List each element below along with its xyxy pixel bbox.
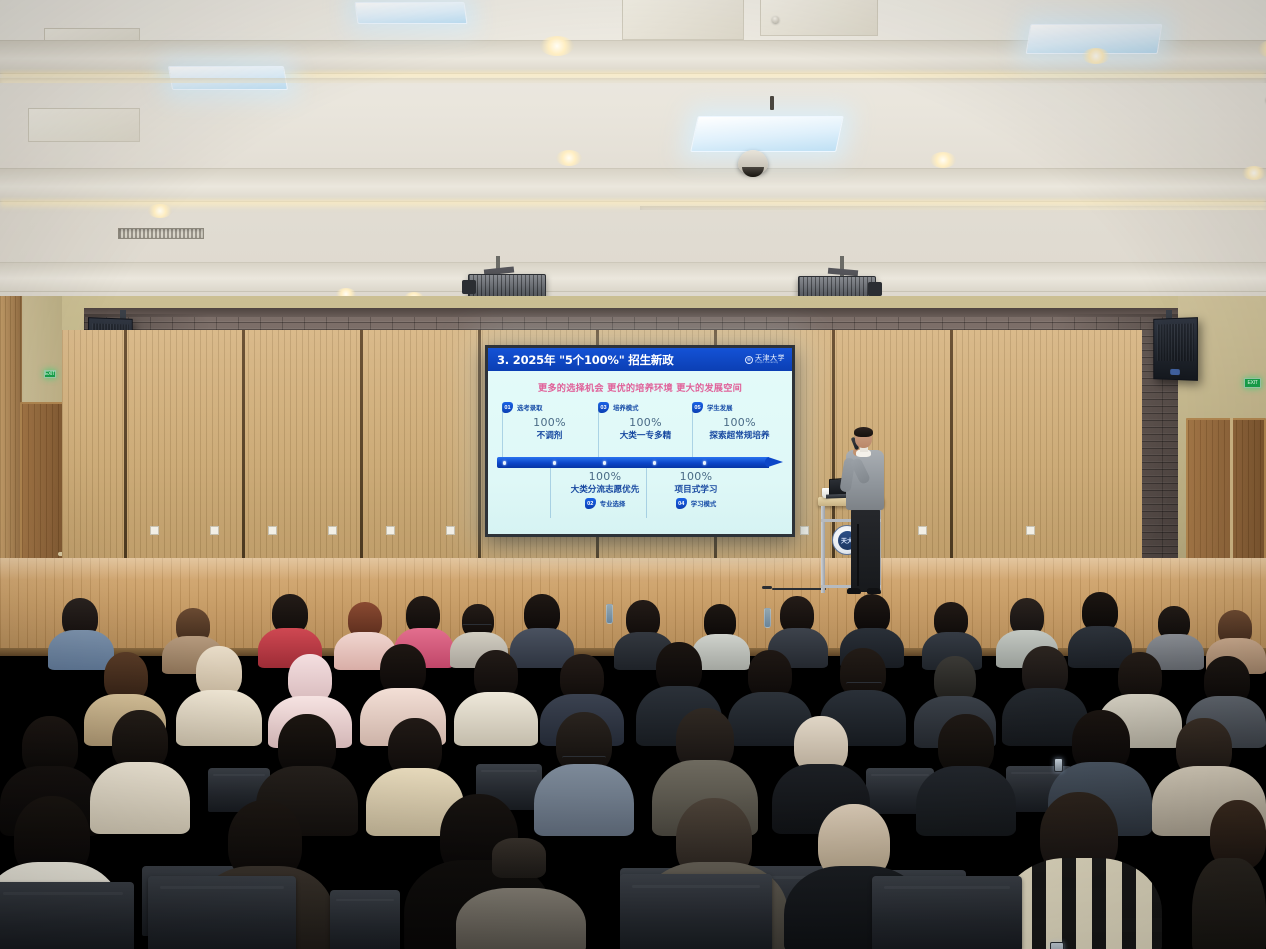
panel-seam (360, 330, 363, 562)
wall-plate (386, 526, 395, 535)
timeline-node (503, 461, 506, 464)
ceiling-soffit (0, 168, 1266, 202)
ceiling (0, 0, 1266, 300)
timeline-item-01-percent: 100% (502, 416, 597, 429)
timeline-arrow (497, 457, 783, 468)
camera-mount-stalk (770, 96, 774, 110)
slide-subtitle: 更多的选择机会 更优的培养环境 更大的发展空间 (488, 380, 792, 394)
timeline-node (703, 461, 706, 464)
timeline-item-03-header: 03 培养模式 (598, 402, 693, 413)
timeline-node (553, 461, 556, 464)
ceiling-downlight (1242, 166, 1266, 180)
timeline-item-02-percent: 100% (550, 470, 660, 483)
wall-plate (918, 526, 927, 535)
timeline-arrow-head (765, 456, 783, 468)
timeline-item-01: 01 选考录取 100% 不调剂 (502, 402, 597, 441)
university-logo-text: 天津大学 Tianjin University (755, 355, 785, 365)
timeline-item-03: 03 培养模式 100% 大类一专多精 (598, 402, 693, 441)
wall-plate (150, 526, 159, 535)
timeline-tick (502, 404, 503, 457)
timeline-item-02-badge: 02 (585, 498, 596, 509)
timeline-item-03-desc: 大类一专多精 (598, 429, 693, 441)
audience-body (1002, 858, 1162, 949)
presenter-legs (851, 508, 880, 592)
exit-sign-icon-right: EXIT (1244, 378, 1261, 388)
timeline-item-01-category: 选考录取 (517, 403, 543, 412)
ceiling-downlight (556, 150, 582, 166)
ceiling-panel-light (354, 2, 467, 24)
timeline-item-05-header: 05 学生发展 (692, 402, 787, 413)
audience-body (1192, 858, 1266, 949)
ceiling-tile (622, 0, 744, 40)
wall-plate (800, 526, 809, 535)
timeline-tick (598, 404, 599, 457)
timeline-item-04: 100% 项目式学习 04 学习模式 (646, 470, 746, 509)
seat-foreground[interactable] (872, 876, 1022, 949)
presenter-leg-gap (857, 524, 859, 586)
speaker-grille (1157, 323, 1195, 361)
timeline-item-05-category: 学生发展 (707, 403, 733, 412)
smartphone-icon[interactable] (1054, 758, 1063, 772)
panel-seam (124, 330, 127, 562)
timeline-tick (692, 404, 693, 457)
wall-plate (1026, 526, 1035, 535)
ceiling-downlight (148, 204, 172, 218)
audience-body (456, 888, 586, 949)
exit-sign-label-right: EXIT (1248, 380, 1258, 386)
ceiling-downlight (1082, 48, 1110, 64)
ceiling-downlight (930, 152, 956, 168)
wall-plate (446, 526, 455, 535)
timeline-item-03-category: 培养模式 (613, 403, 639, 412)
wall-plate (328, 526, 337, 535)
panel-seam (950, 330, 953, 562)
slide-timeline: 01 选考录取 100% 不调剂 03 培养模式 100% 大类一专多精 (488, 402, 792, 520)
presenter-hair (854, 427, 873, 437)
ceiling-air-vent (118, 228, 204, 239)
ceiling-downlight (540, 36, 574, 56)
panel-seam (242, 330, 245, 562)
timeline-item-04-header: 04 学习模式 (646, 498, 746, 509)
timeline-node (653, 461, 656, 464)
timeline-item-05-badge: 05 (692, 402, 703, 413)
audience-head (492, 838, 546, 878)
panel-seam (478, 330, 481, 562)
audience (0, 590, 1266, 949)
speaker-brand-logo (1170, 369, 1180, 375)
wall-speaker-icon-right (1153, 317, 1198, 381)
ceiling-tile (28, 108, 140, 142)
timeline-item-04-badge: 04 (676, 498, 687, 509)
timeline-item-04-desc: 项目式学习 (646, 483, 746, 495)
timeline-item-04-percent: 100% (646, 470, 746, 483)
timeline-item-03-badge: 03 (598, 402, 609, 413)
smartphone-icon[interactable] (1050, 942, 1064, 949)
ceiling-light-strip (0, 78, 1266, 83)
timeline-arrow-bar (497, 457, 769, 468)
seat-foreground[interactable] (0, 882, 134, 949)
timeline-item-02-desc: 大类分流志愿优先 (550, 483, 660, 495)
dome-camera-icon (738, 150, 768, 174)
water-bottle (764, 608, 771, 628)
wall-plate (210, 526, 219, 535)
timeline-item-01-header: 01 选考录取 (502, 402, 597, 413)
slide: 3. 2025年 "5个100%" 招生新政 ⊛ 天津大学 Tianjin Un… (488, 348, 792, 534)
exit-sign-icon: EXIT (44, 370, 56, 378)
timeline-item-05-percent: 100% (692, 416, 787, 429)
seat-foreground[interactable] (148, 876, 296, 949)
timeline-item-05-desc: 探索超常规培养 (692, 429, 787, 441)
timeline-item-01-badge: 01 (502, 402, 513, 413)
university-logo: ⊛ 天津大学 Tianjin University (745, 355, 785, 365)
ceiling-soffit (0, 262, 1266, 292)
timeline-item-02-category: 专业选择 (600, 499, 626, 508)
exit-sign-label: EXIT (45, 371, 55, 377)
microphone-icon-floor (762, 586, 772, 589)
wall-plate (268, 526, 277, 535)
timeline-item-01-desc: 不调剂 (502, 429, 597, 441)
timeline-item-05: 05 学生发展 100% 探索超常规培养 (692, 402, 787, 441)
sprinkler-icon (772, 16, 779, 23)
eyeglasses (462, 624, 492, 628)
water-bottle (606, 604, 613, 624)
projection-screen: 3. 2025年 "5个100%" 招生新政 ⊛ 天津大学 Tianjin Un… (485, 345, 795, 537)
auditorium-photo: EXIT EXIT 春 大 堂 讲 (0, 0, 1266, 949)
timeline-item-04-category: 学习模式 (691, 499, 717, 508)
eyeglasses (562, 756, 606, 760)
slide-header: 3. 2025年 "5个100%" 招生新政 ⊛ 天津大学 Tianjin Un… (488, 348, 792, 371)
university-logo-mark: ⊛ (745, 356, 753, 364)
presenter (843, 428, 887, 594)
ceiling-light-strip (640, 206, 1266, 210)
timeline-item-02-header: 02 专业选择 (550, 498, 660, 509)
timeline-item-03-percent: 100% (598, 416, 693, 429)
university-name-en: Tianjin University (755, 362, 785, 365)
eyeglasses (846, 682, 882, 686)
seat-foreground[interactable] (330, 890, 400, 949)
seat-foreground[interactable] (620, 874, 772, 949)
timeline-item-02: 100% 大类分流志愿优先 02 专业选择 (550, 470, 660, 509)
timeline-node (603, 461, 606, 464)
slide-title: 3. 2025年 "5个100%" 招生新政 (497, 352, 674, 368)
